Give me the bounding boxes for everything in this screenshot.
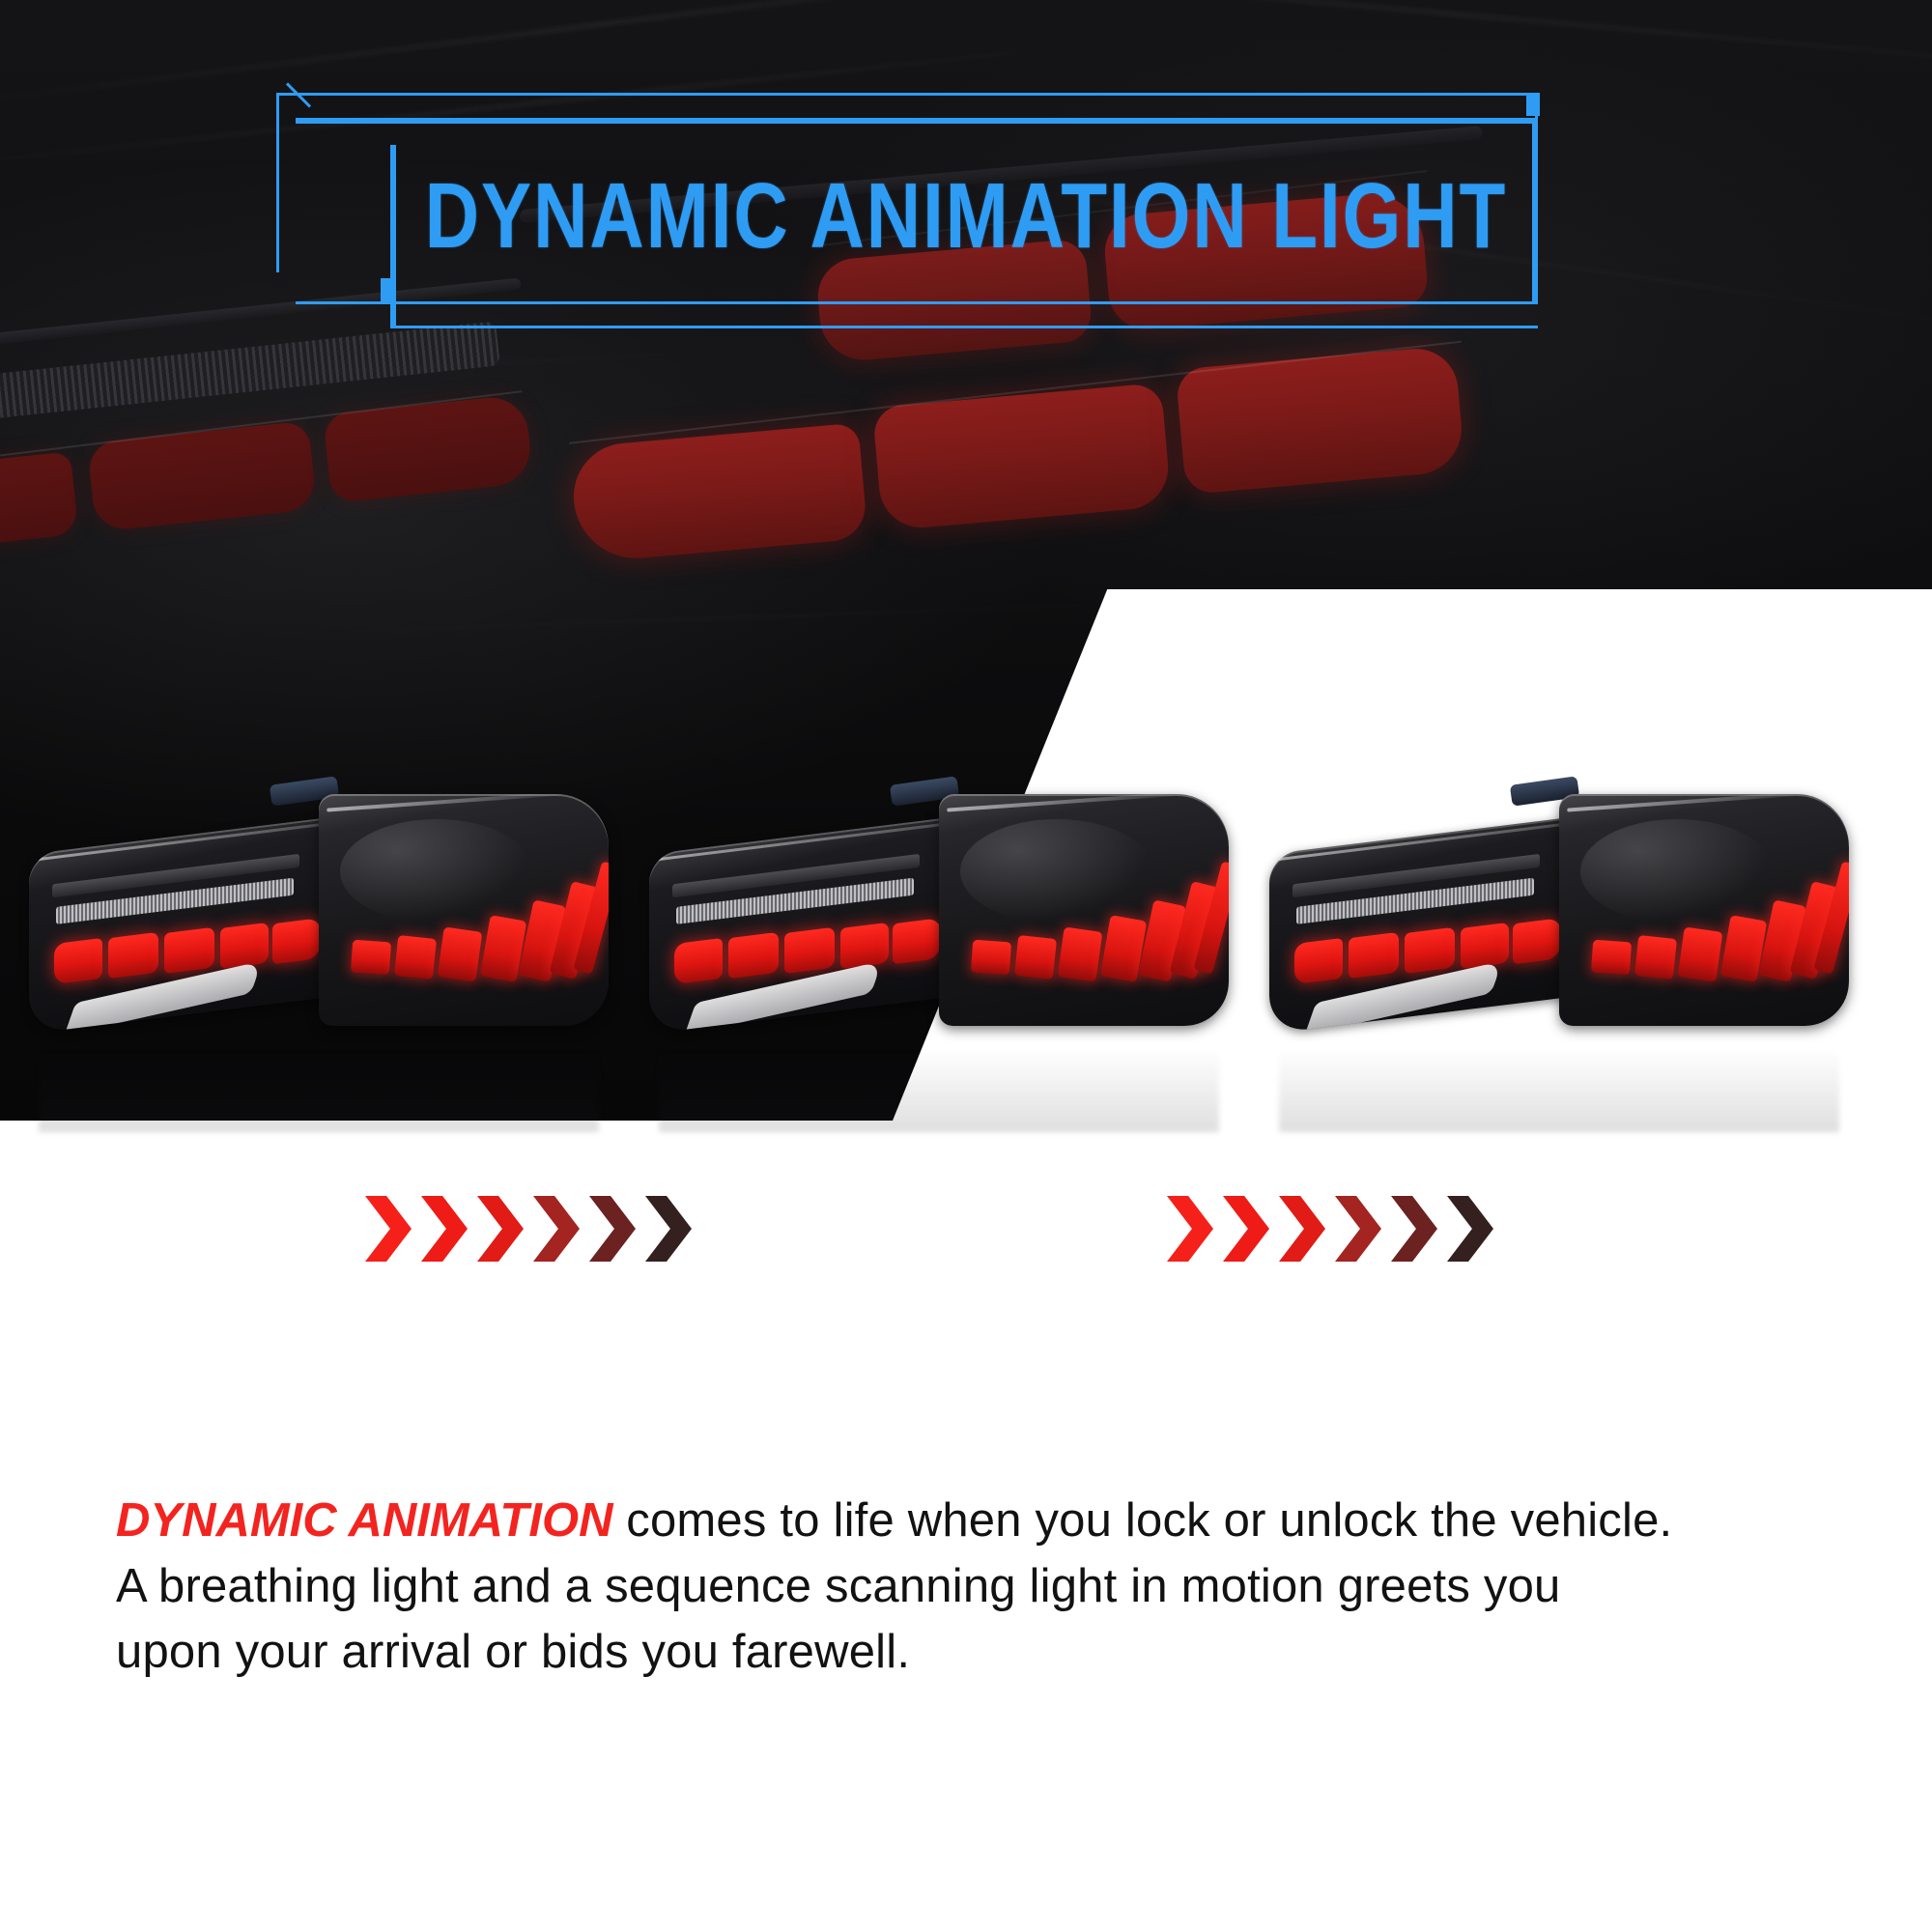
- chevron-icon: [589, 1196, 636, 1262]
- description-text: DYNAMIC ANIMATION comes to life when you…: [116, 1488, 1797, 1685]
- lamp-outer-cluster: [939, 794, 1229, 1026]
- chevron-icon: [1335, 1196, 1381, 1262]
- chevron-icon: [365, 1196, 412, 1262]
- chevron-icon: [421, 1196, 468, 1262]
- chevron-icon: [1447, 1196, 1493, 1262]
- frame-line-bottom-outer: [390, 326, 1538, 328]
- description-line-3: upon your arrival or bids you farewell.: [116, 1619, 1797, 1685]
- title-banner: DYNAMIC ANIMATION LIGHT: [0, 0, 1932, 386]
- chevron-icon: [645, 1196, 692, 1262]
- lamp-reflection: [659, 1016, 1219, 1132]
- product-trio: [0, 773, 1932, 1179]
- lamp-inner-wing: [1269, 815, 1588, 1035]
- taillight-product-right: [1269, 773, 1849, 1063]
- chevron-group-left: [365, 1196, 692, 1262]
- description-line-2: A breathing light and a sequence scannin…: [116, 1553, 1797, 1619]
- lamp-reflection: [1279, 1016, 1839, 1132]
- lamp-inner-wing: [649, 815, 968, 1035]
- taillight-product-left: [29, 773, 609, 1063]
- frame-line-bottom-inner: [296, 301, 1538, 304]
- lamp-gloss-highlight: [340, 819, 533, 923]
- chevron-icon: [1279, 1196, 1325, 1262]
- page-title: DYNAMIC ANIMATION LIGHT: [0, 162, 1932, 270]
- lamp-gloss-highlight: [960, 819, 1153, 923]
- frame-line-top-inner: [296, 118, 1538, 124]
- lamp-outer-cluster: [1559, 794, 1849, 1026]
- lamp-outer-cluster: [319, 794, 609, 1026]
- chevron-icon: [533, 1196, 580, 1262]
- chevron-icon: [1223, 1196, 1269, 1262]
- sequential-arrow-indicators: [0, 1196, 1932, 1293]
- chevron-icon: [1391, 1196, 1437, 1262]
- description-highlight: DYNAMIC ANIMATION: [116, 1494, 612, 1547]
- chevron-group-right: [1167, 1196, 1493, 1262]
- lamp-reflection: [39, 1016, 599, 1132]
- lamp-inner-wing: [29, 815, 348, 1035]
- frame-nub-left: [381, 278, 396, 303]
- taillight-product-center: [649, 773, 1229, 1063]
- chevron-icon: [477, 1196, 524, 1262]
- frame-nub-right: [1526, 93, 1540, 116]
- description-line-1-rest: comes to life when you lock or unlock th…: [612, 1494, 1672, 1547]
- chevron-icon: [1167, 1196, 1213, 1262]
- frame-line-top-outer: [276, 93, 1538, 96]
- description-line-1: DYNAMIC ANIMATION comes to life when you…: [116, 1488, 1797, 1553]
- frame-corner-chamfer: [263, 82, 311, 130]
- lamp-gloss-highlight: [1580, 819, 1774, 923]
